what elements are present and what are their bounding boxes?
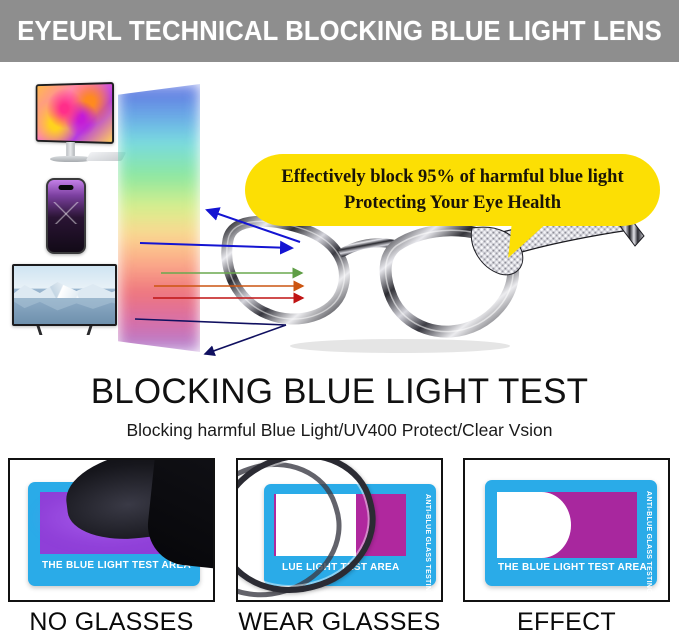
panel-wear-glasses: LUE LIGHT TEST AREA ANTI-BLUE GLASS TEST… bbox=[236, 458, 443, 637]
banner-title: EYEURL TECHNICAL BLOCKING BLUE LIGHT LEN… bbox=[17, 15, 662, 47]
bubble-line-1: Effectively block 95% of harmful blue li… bbox=[281, 164, 623, 190]
blue-ray-incoming bbox=[140, 243, 292, 248]
test-title: BLOCKING BLUE LIGHT TEST bbox=[0, 372, 679, 412]
panel-label-no-glasses: NO GLASSES bbox=[8, 608, 215, 637]
blocked-region-3 bbox=[497, 492, 571, 558]
test-subtitle: Blocking harmful Blue Light/UV400 Protec… bbox=[0, 420, 679, 441]
hero-section: Effectively block 95% of harmful blue li… bbox=[0, 62, 679, 367]
panel-label-effect: EFFECT bbox=[463, 608, 670, 637]
panel-effect: THE BLUE LIGHT TEST AREA ANTI-BLUE GLASS… bbox=[463, 458, 670, 637]
speech-bubble: Effectively block 95% of harmful blue li… bbox=[245, 154, 660, 226]
speech-bubble-tail bbox=[508, 222, 548, 258]
navy-ray-incoming bbox=[135, 319, 286, 325]
card-vertical-text-3: ANTI-BLUE GLASS TESTING bbox=[645, 491, 652, 594]
comparison-panels: THE BLUE LIGHT TEST AREA ASS TESTING NO … bbox=[0, 458, 679, 635]
card-text-3: THE BLUE LIGHT TEST AREA bbox=[498, 562, 647, 573]
panel-label-wear-glasses: WEAR GLASSES bbox=[236, 608, 443, 637]
card-vertical-text-2: ANTI-BLUE GLASS TESTING bbox=[424, 494, 431, 597]
header-banner: EYEURL TECHNICAL BLOCKING BLUE LIGHT LEN… bbox=[0, 0, 679, 62]
test-section-heading: BLOCKING BLUE LIGHT TEST Blocking harmfu… bbox=[0, 372, 679, 441]
panel-image-no-glasses: THE BLUE LIGHT TEST AREA ASS TESTING bbox=[8, 458, 215, 602]
card-text-1: THE BLUE LIGHT TEST AREA bbox=[42, 560, 191, 571]
panel-image-effect: THE BLUE LIGHT TEST AREA ANTI-BLUE GLASS… bbox=[463, 458, 670, 602]
panel-image-wear-glasses: LUE LIGHT TEST AREA ANTI-BLUE GLASS TEST… bbox=[236, 458, 443, 602]
panel-no-glasses: THE BLUE LIGHT TEST AREA ASS TESTING NO … bbox=[8, 458, 215, 637]
test-card-3: THE BLUE LIGHT TEST AREA ANTI-BLUE GLASS… bbox=[485, 480, 657, 586]
navy-ray-reflected-down bbox=[205, 325, 286, 354]
bubble-line-2: Protecting Your Eye Health bbox=[344, 190, 561, 216]
